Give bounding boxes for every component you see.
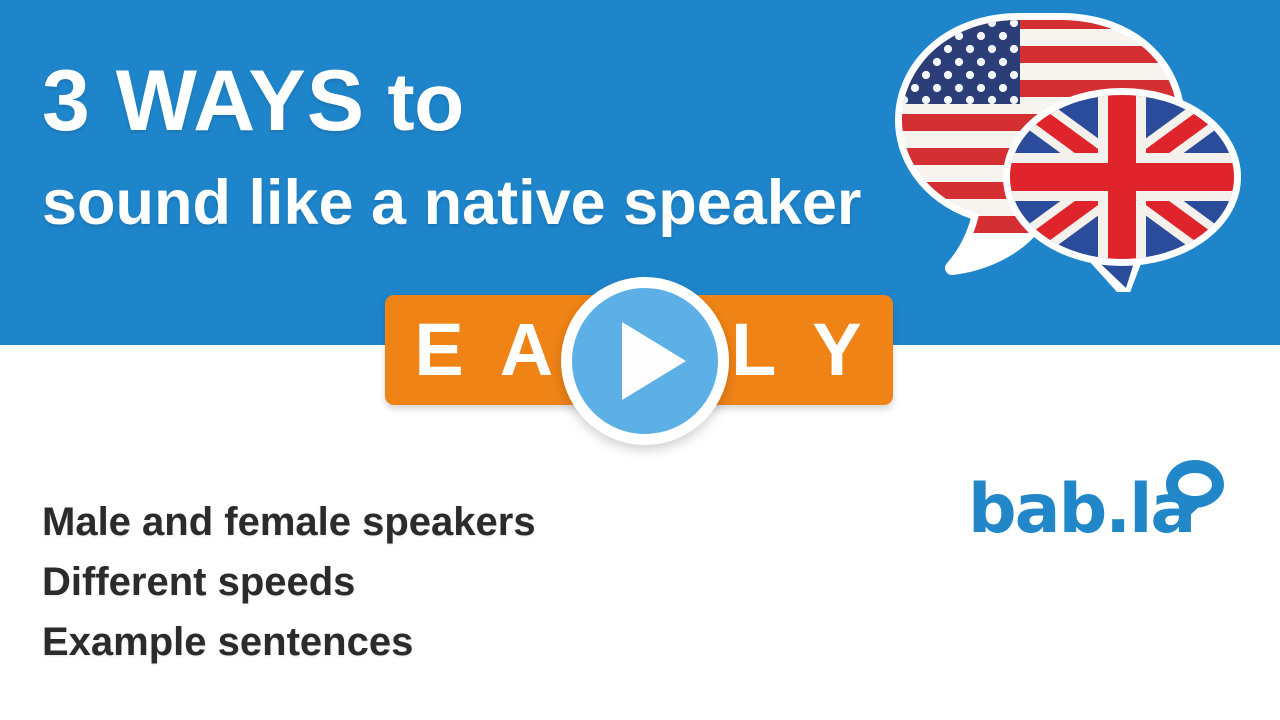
play-button[interactable] (561, 277, 729, 445)
uk-flag-bubble (1010, 95, 1234, 292)
speech-bubble-icon (1164, 458, 1226, 530)
headline-lead: 3 WAYS (42, 53, 365, 149)
easily-letter-a: A (500, 313, 555, 387)
list-item: Example sentences (42, 612, 742, 672)
video-thumbnail: 3 WAYS to sound like a native speaker (0, 0, 1280, 720)
page-title: 3 WAYS to (42, 58, 882, 146)
headline-block: 3 WAYS to sound like a native speaker (42, 58, 882, 238)
easily-letter-y: Y (812, 313, 863, 387)
feature-list: Male and female speakers Different speed… (42, 492, 742, 672)
easily-letter-e: E (414, 313, 465, 387)
list-item: Different speeds (42, 552, 742, 612)
brand-wordmark: bab.la (968, 474, 1194, 546)
page-subtitle: sound like a native speaker (42, 168, 882, 238)
brand-logo[interactable]: bab.la (968, 458, 1218, 558)
easily-letter-l: L (731, 313, 778, 387)
play-icon (622, 322, 686, 400)
list-item: Male and female speakers (42, 492, 742, 552)
flag-bubbles-graphic (890, 12, 1250, 292)
headline-tail: to (365, 57, 464, 148)
